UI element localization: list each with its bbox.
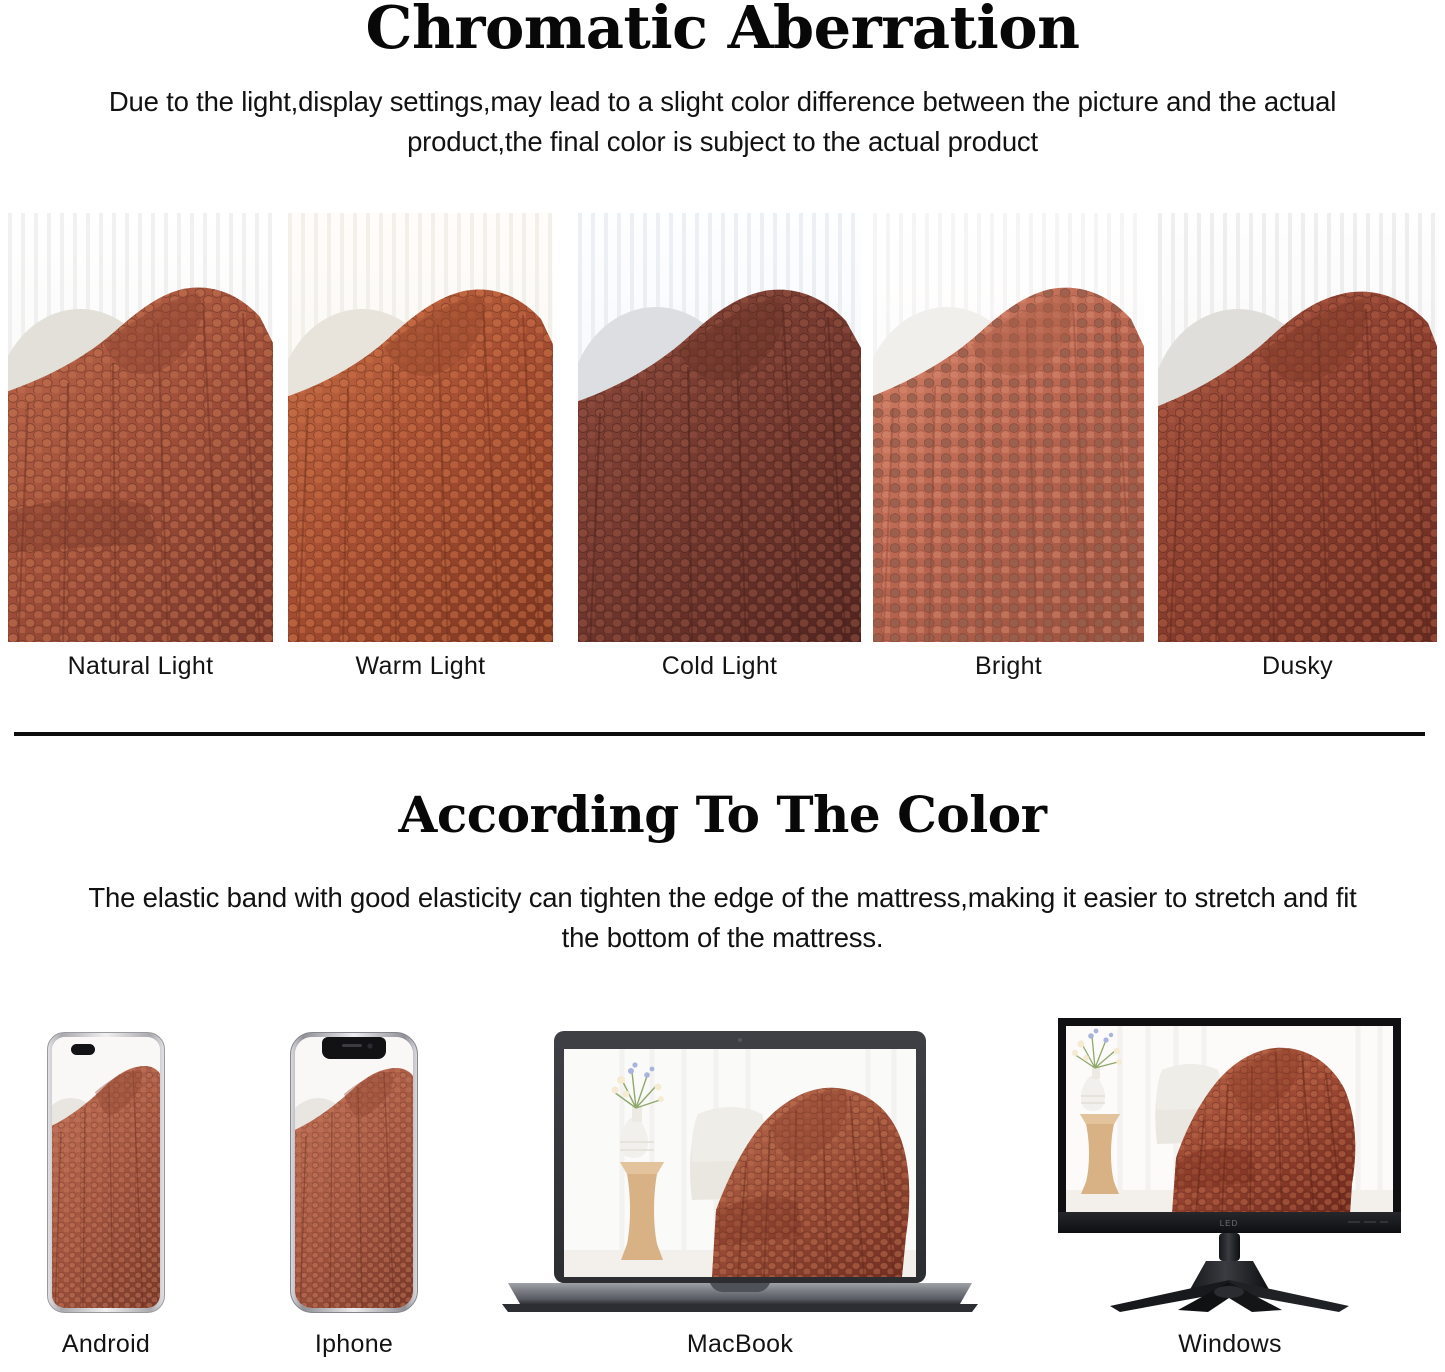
lighting-sample-row [0, 213, 1445, 642]
device-caption-android: Android [16, 1330, 196, 1359]
svg-text:LED: LED [1220, 1219, 1239, 1228]
device-caption-iphone: Iphone [264, 1330, 444, 1359]
section-title-according-to-the-color: According To The Color [0, 790, 1445, 840]
lighting-sample-photo-natural-light [8, 213, 273, 642]
device-caption-macbook: MacBook [650, 1330, 830, 1359]
section-subtitle-chromatic-aberration: Due to the light,display settings,may le… [60, 82, 1385, 162]
lighting-sample-photo-dusky [1158, 213, 1437, 642]
lighting-caption-natural-light: Natural Light [8, 652, 273, 681]
lighting-caption-cold-light: Cold Light [578, 652, 861, 681]
lighting-caption-bright: Bright [873, 652, 1144, 681]
notch-icon [322, 1037, 386, 1059]
section-subtitle-according-to-the-color: The elastic band with good elasticity ca… [75, 878, 1370, 958]
device-mockup-iphone [290, 1032, 418, 1313]
punch-hole-camera-icon [71, 1044, 95, 1055]
device-caption-windows: Windows [1140, 1330, 1320, 1359]
lighting-sample-photo-warm-light [288, 213, 553, 642]
section-divider [14, 732, 1425, 736]
lighting-caption-warm-light: Warm Light [288, 652, 553, 681]
lighting-sample-photo-bright [873, 213, 1144, 642]
device-mockup-windows: LED [1058, 1018, 1401, 1313]
lighting-caption-dusky: Dusky [1158, 652, 1437, 681]
trackpad-notch [710, 1283, 770, 1292]
device-mockup-android [47, 1032, 165, 1313]
device-mockup-macbook [502, 1022, 978, 1313]
device-preview-row: LED [0, 1018, 1445, 1313]
section-title-chromatic-aberration: Chromatic Aberration [0, 0, 1445, 57]
infographic-page: Chromatic Aberration Due to the light,di… [0, 0, 1445, 1372]
lighting-caption-row: Natural Light Warm Light Cold Light Brig… [0, 652, 1445, 692]
device-caption-row: Android Iphone MacBook Windows [0, 1330, 1445, 1372]
lighting-sample-photo-cold-light [578, 213, 861, 642]
